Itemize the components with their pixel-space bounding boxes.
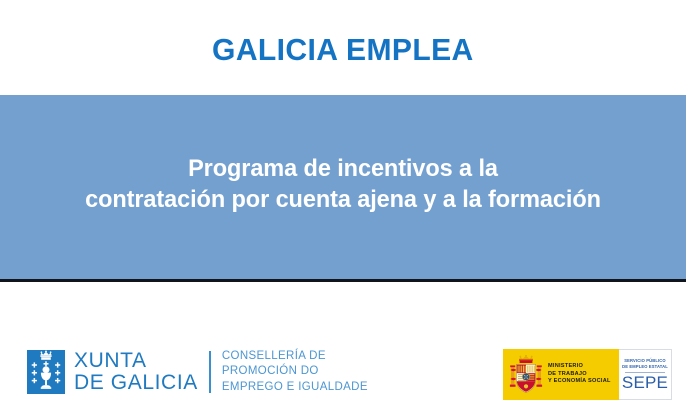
xunta-wordmark: XUNTA DE GALICIA — [74, 350, 198, 393]
ministerio-logo: MINISTERIO DE TRABAJO Y ECONOMÍA SOCIAL — [503, 349, 619, 400]
program-subtitle-line-1: Programa de incentivos a la — [14, 154, 673, 185]
ministerio-line-3: Y ECONOMÍA SOCIAL — [548, 378, 611, 386]
logo-divider — [209, 351, 211, 393]
sepe-subtitle-line-2: DE EMPLEO ESTATAL — [622, 364, 668, 370]
sepe-wordmark: SEPE — [622, 374, 668, 391]
header-banner: GALICIA EMPLEA — [0, 0, 686, 95]
program-banner: Programa de incentivos a la contratación… — [0, 95, 686, 282]
xunta-shield-icon — [27, 350, 65, 394]
footer-logos: XUNTA DE GALICIA CONSELLERÍA DE PROMOCIÓ… — [0, 285, 686, 410]
program-subtitle-line-2: contratación por cuenta ajena y a la for… — [14, 185, 673, 216]
government-logos: MINISTERIO DE TRABAJO Y ECONOMÍA SOCIAL … — [503, 349, 672, 400]
sepe-logo: SERVICIO PÚBLICO DE EMPLEO ESTATAL SEPE — [619, 349, 672, 400]
xunta-de-galicia-logo: XUNTA DE GALICIA CONSELLERÍA DE PROMOCIÓ… — [27, 349, 368, 395]
conselleria-line-2: PROMOCIÓN DO — [222, 364, 368, 379]
ministerio-line-1: MINISTERIO — [548, 363, 611, 371]
conselleria-label: CONSELLERÍA DE PROMOCIÓN DO EMPREGO E IG… — [222, 349, 368, 395]
conselleria-line-1: CONSELLERÍA DE — [222, 349, 368, 364]
spain-coat-of-arms-icon — [509, 355, 543, 395]
xunta-wordmark-line-2: DE GALICIA — [74, 372, 198, 394]
conselleria-line-3: EMPREGO E IGUALDADE — [222, 380, 368, 395]
sepe-subtitle: SERVICIO PÚBLICO DE EMPLEO ESTATAL — [622, 358, 668, 370]
xunta-wordmark-line-1: XUNTA — [74, 350, 198, 372]
ministerio-label: MINISTERIO DE TRABAJO Y ECONOMÍA SOCIAL — [548, 363, 611, 387]
page-title: GALICIA EMPLEA — [212, 30, 474, 65]
program-banner-text: Programa de incentivos a la contratación… — [0, 154, 686, 220]
